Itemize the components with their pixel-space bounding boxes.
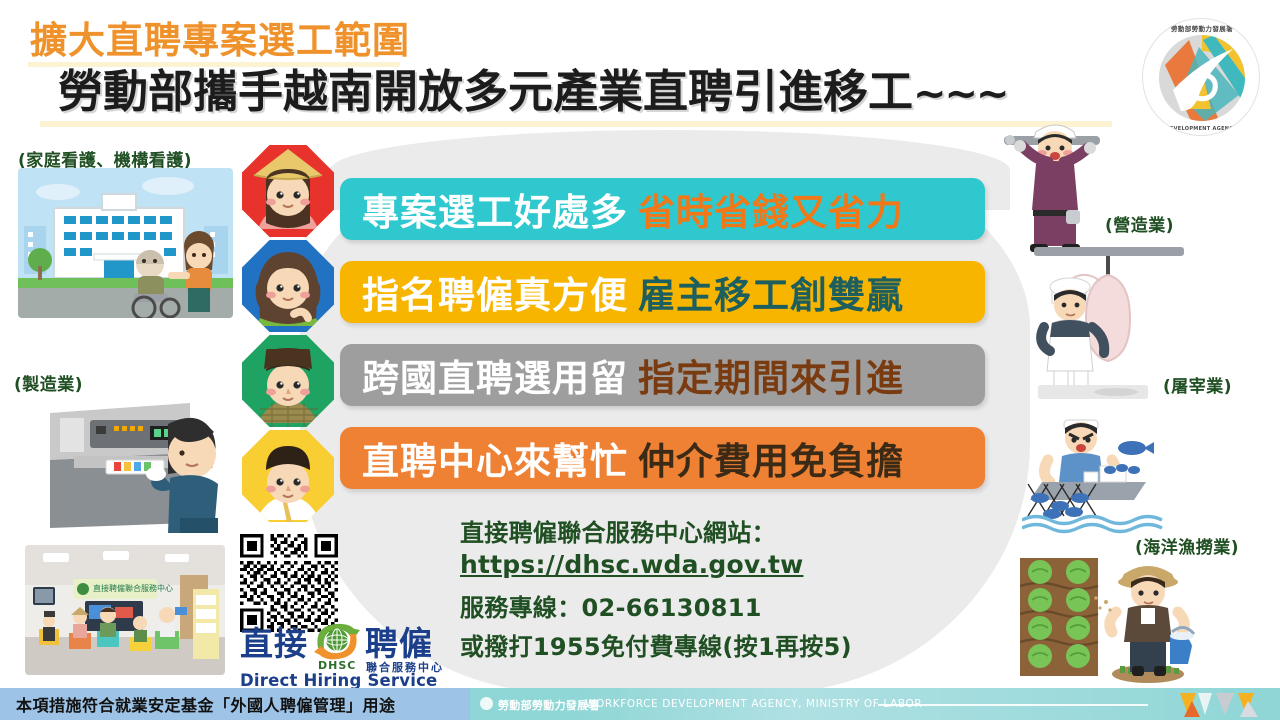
benefit-bar-1[interactable]: 專案選工好處多 省時省錢又省力 [340, 178, 985, 240]
title-tilde: ~~~ [913, 71, 1008, 117]
benefit-bar-4[interactable]: 直聘中心來幫忙 仲介費用免負擔 [340, 427, 985, 489]
benefit-bar-1-text-b: 省時省錢又省力 [638, 182, 904, 236]
contact-site-label: 直接聘僱聯合服務中心網站： [460, 518, 920, 550]
benefit-bar-4-text-b: 仲介費用免負擔 [638, 431, 904, 485]
contact-tollfree: 或撥打1955免付費專線(按1再按5) [460, 632, 920, 664]
service-center-illustration: 直接聘僱聯合服務中心 [25, 545, 225, 675]
benefit-bar-1-text-a: 專案選工好處多 [362, 182, 628, 236]
fishing-art [1022, 412, 1212, 542]
manufacturing-illustration [40, 398, 245, 533]
dhsc-logo-cn-right: 聘僱 [365, 617, 433, 665]
title-underline [40, 121, 1112, 127]
industry-illustration-construction [1000, 118, 1130, 262]
seal-emblem [1159, 35, 1245, 121]
construction-art [1000, 118, 1130, 258]
dhsc-logo: 直接 聘僱 DHSC 聯合服務中心 Direct Hiring Service … [240, 615, 455, 685]
dhsc-globe-icon [312, 618, 362, 663]
page-kicker: 擴大直聘專案選工範圍 [30, 22, 410, 61]
agriculture-art [1020, 548, 1210, 688]
contact-url-link[interactable]: https://dhsc.wda.gov.tw [460, 550, 803, 579]
care-illustration [18, 168, 233, 318]
page-title: 勞動部攜手越南開放多元產業直聘引進移工~~~ [58, 68, 1008, 115]
page-title-text: 勞動部攜手越南開放多元產業直聘引進移工 [58, 65, 913, 118]
industry-label-manufacturing: (製造業) [14, 370, 83, 395]
industry-photo-manufacturing [40, 398, 245, 533]
seal-emblem-art [1159, 35, 1245, 121]
poster-canvas: 擴大直聘專案選工範圍 勞動部攜手越南開放多元產業直聘引進移工~~~ 勞動部勞動力… [0, 0, 1280, 720]
seal-text-cn: 勞動部勞動力發展署 [1143, 23, 1260, 33]
contact-block: 直接聘僱聯合服務中心網站： https://dhsc.wda.gov.tw 服務… [460, 518, 920, 664]
seal-text-en: DEVELOPMENT AGENCY, [1143, 126, 1260, 132]
benefit-bar-2-text-a: 指名聘僱真方便 [362, 265, 628, 319]
contact-hotline: 服務專線：02-66130811 [460, 593, 920, 625]
avatar-0-art [242, 145, 334, 237]
industry-label-slaughter: (屠宰業) [1163, 372, 1232, 397]
footer-right-band: 勞動部勞動力發展署 WORKFORCE DEVELOPMENT AGENCY, … [470, 688, 1280, 720]
avatar-vietnamese-worker [242, 145, 334, 237]
footer-agency-en: WORKFORCE DEVELOPMENT AGENCY, MINISTRY O… [585, 698, 922, 710]
benefit-bar-2-text-b: 雇主移工創雙贏 [638, 265, 904, 319]
service-center-photo: 直接聘僱聯合服務中心 [25, 545, 225, 675]
benefit-bar-4-text-a: 直聘中心來幫忙 [362, 431, 628, 485]
footer-note-text: 本項措施符合就業安定基金「外國人聘僱管理」用途 [16, 692, 396, 716]
benefit-bar-2[interactable]: 指名聘僱真方便 雇主移工創雙贏 [340, 261, 985, 323]
svg-text:直接聘僱聯合服務中心: 直接聘僱聯合服務中心 [93, 583, 173, 593]
benefit-bar-3-text-a: 跨國直聘選用留 [362, 348, 628, 402]
footer-bar: 本項措施符合就業安定基金「外國人聘僱管理」用途 勞動部勞動力發展署 WORKFO… [0, 688, 1280, 720]
footer-left-note: 本項措施符合就業安定基金「外國人聘僱管理」用途 [0, 688, 470, 720]
benefit-bar-3-text-b: 指定期間來引進 [638, 348, 904, 402]
wda-seal-logo: 勞動部勞動力發展署 DEVELOPMENT AGENCY, [1142, 18, 1260, 136]
footer-wda-art [1162, 691, 1272, 717]
industry-label-construction: (營造業) [1105, 211, 1174, 236]
footer-rule [878, 704, 1148, 706]
benefit-bar-3[interactable]: 跨國直聘選用留 指定期間來引進 [340, 344, 985, 406]
footer-wda-wordmark [1162, 691, 1272, 717]
dhsc-logo-cn-left: 直接 [240, 617, 308, 665]
footer-agency-mark-icon [480, 697, 493, 710]
industry-illustration-agriculture [1020, 548, 1210, 692]
dhsc-globe-art [312, 618, 362, 663]
industry-photo-care [18, 168, 233, 318]
industry-illustration-fishing [1022, 412, 1212, 546]
